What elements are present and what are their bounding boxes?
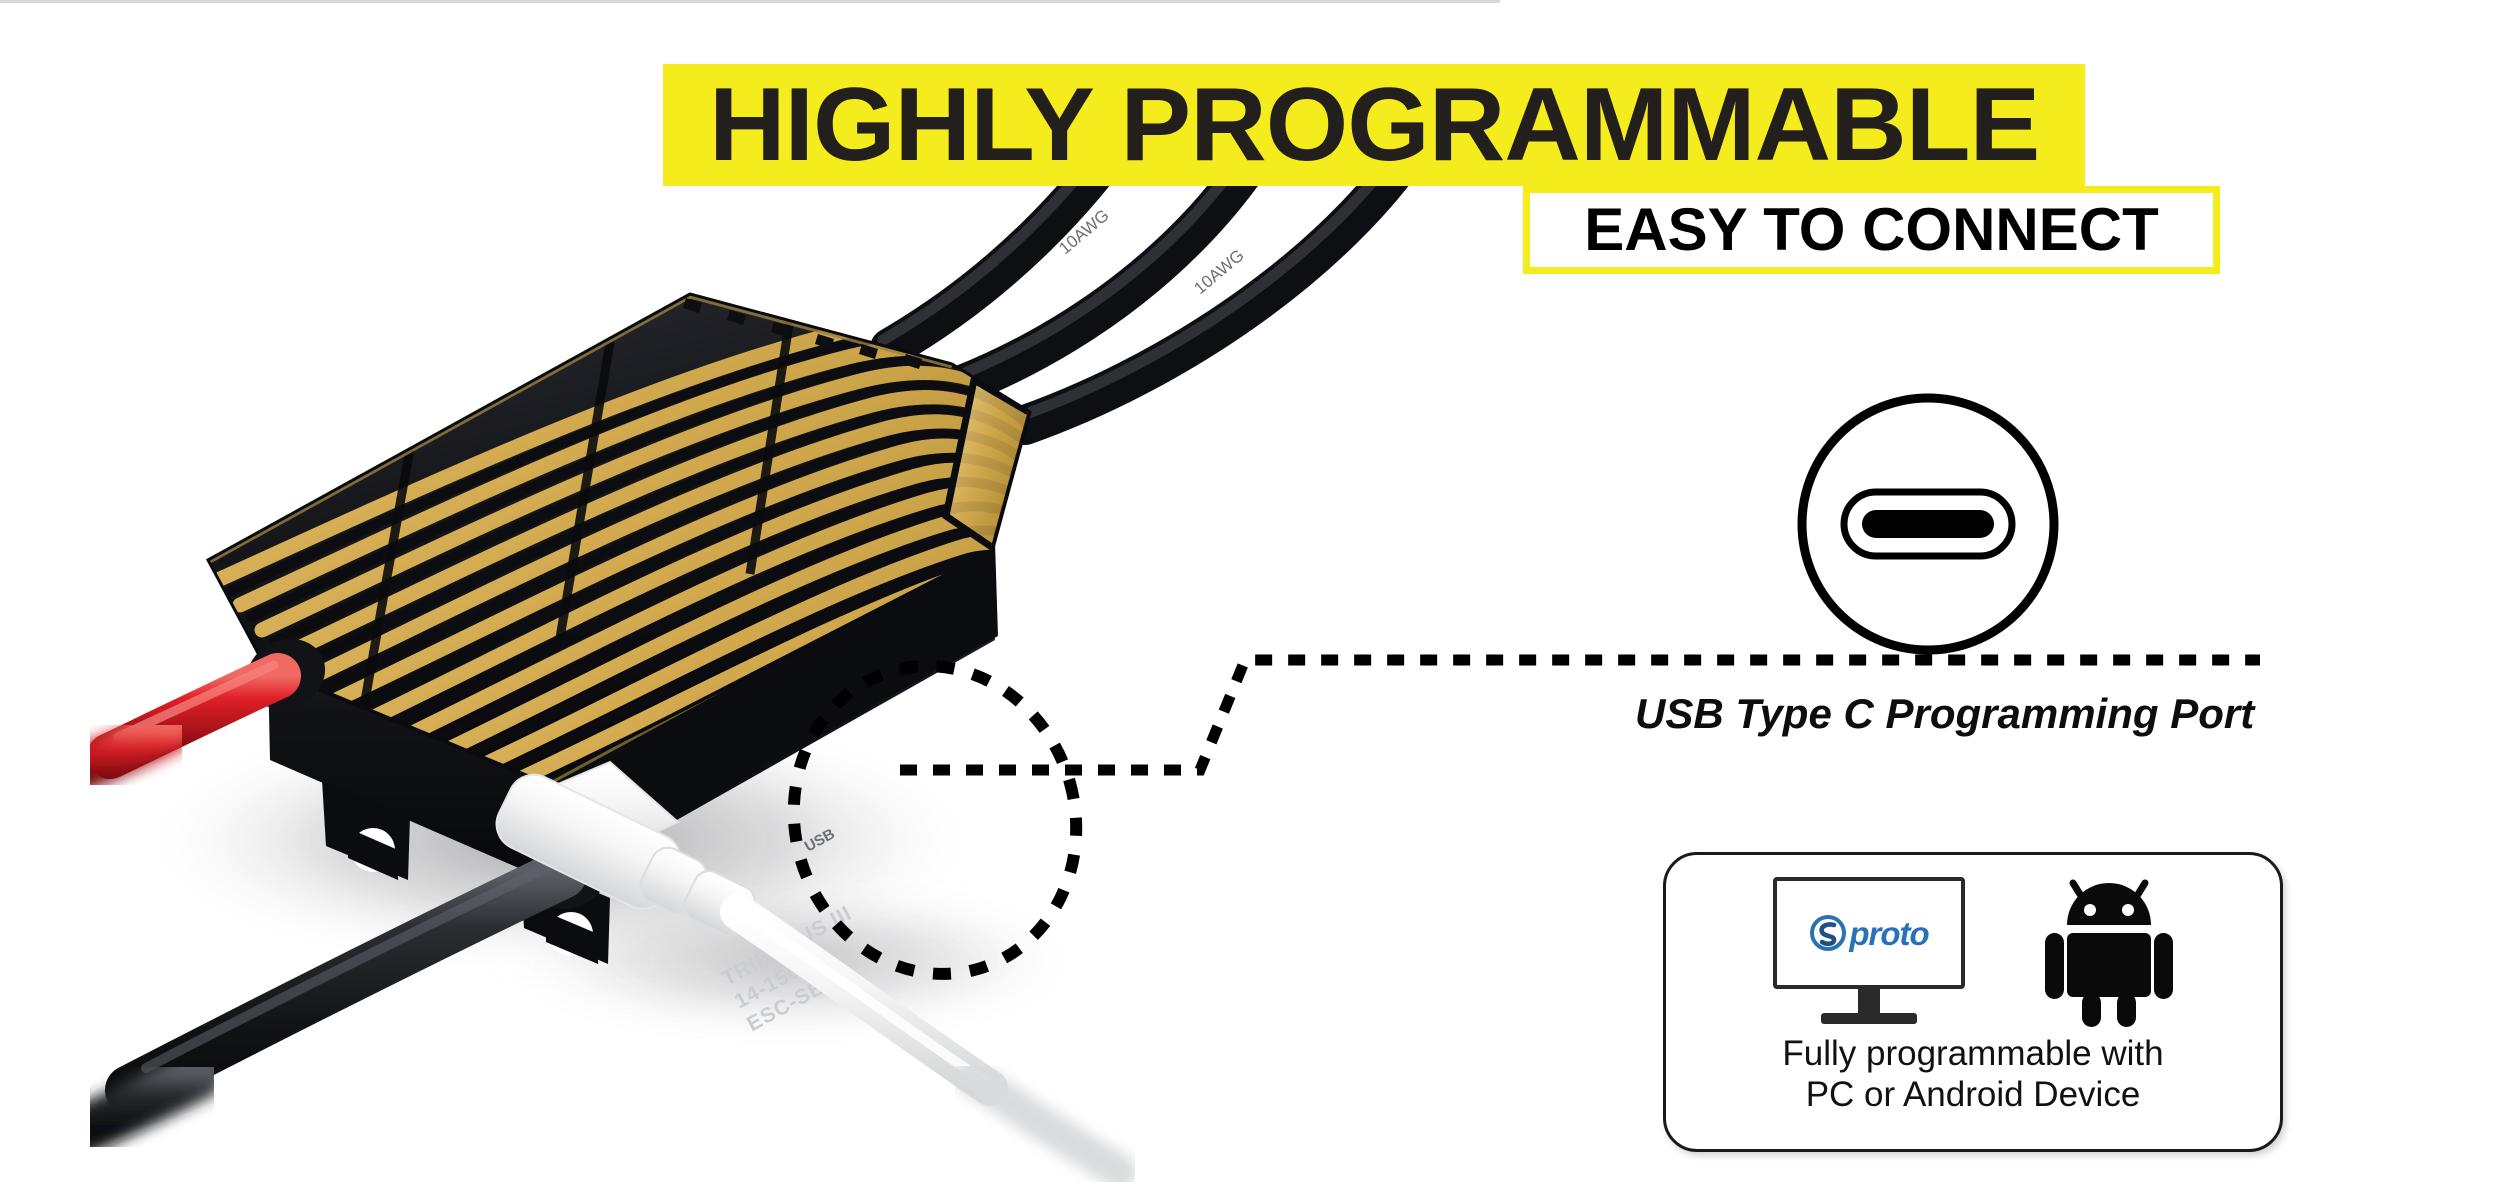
proto-wordmark: proto <box>1849 917 1928 950</box>
compatibility-caption: Fully programmable with PC or Android De… <box>1666 1033 2280 1116</box>
headline-banner: HIGHLY PROGRAMMABLE <box>663 64 2085 186</box>
marketing-banner-canvas: 10AWG 10AWG TRIBUNUS III 14-150A ESC-SBE… <box>0 0 2500 1196</box>
proto-s-badge-icon <box>1809 914 1847 952</box>
callout-label-text: USB Type C Programming Port <box>1635 690 2254 738</box>
compatibility-card: proto <box>1663 852 2283 1152</box>
monitor-screen: proto <box>1773 877 1965 989</box>
subhead-banner: EASY TO CONNECT <box>1523 186 2220 274</box>
android-robot-icon <box>2045 877 2173 1027</box>
caption-line-1: Fully programmable with <box>1666 1033 2280 1074</box>
pc-monitor-icon: proto <box>1773 877 1965 1027</box>
port-highlight-ring <box>760 640 1110 1000</box>
subhead-text: EASY TO CONNECT <box>1584 200 2159 260</box>
caption-line-2: PC or Android Device <box>1666 1074 2280 1115</box>
usb-type-c-icon <box>1792 388 2064 660</box>
compatibility-icon-row: proto <box>1666 877 2280 1027</box>
proto-logo: proto <box>1809 914 1928 952</box>
monitor-stand-base <box>1821 1013 1917 1024</box>
monitor-stand-neck <box>1858 989 1880 1013</box>
headline-text: HIGHLY PROGRAMMABLE <box>709 73 2039 177</box>
top-divider-rule <box>0 0 1500 3</box>
